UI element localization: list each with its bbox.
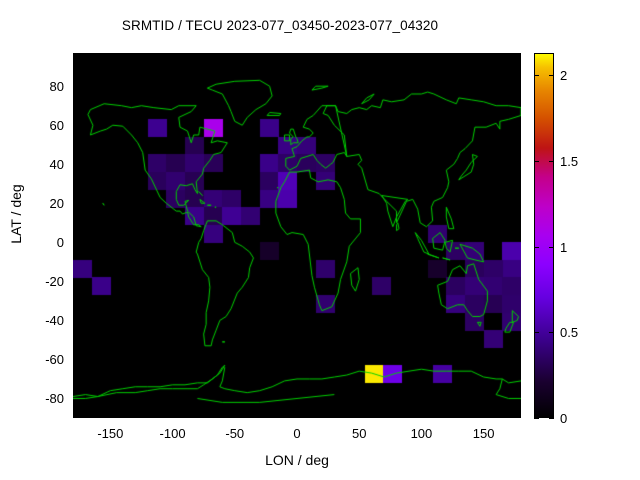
colorbar xyxy=(534,53,554,418)
y-tick-60: 60 xyxy=(4,119,64,132)
colorbar-tick-mark xyxy=(534,332,539,333)
x-tick-100: 100 xyxy=(391,427,451,440)
colorbar-tick-0.5: 0.5 xyxy=(560,326,578,339)
colorbar-tick-mark xyxy=(534,75,539,76)
y-axis-label: LAT / deg xyxy=(8,154,24,274)
x-tick--150: -150 xyxy=(80,427,140,440)
y-tick--20: -20 xyxy=(4,275,64,288)
colorbar-tick-mark xyxy=(549,161,554,162)
colorbar-tick-1: 1 xyxy=(560,241,567,254)
x-tick--50: -50 xyxy=(205,427,265,440)
colorbar-tick-mark xyxy=(549,418,554,419)
y-tick--80: -80 xyxy=(4,392,64,405)
colorbar-tick-mark xyxy=(549,332,554,333)
coastline-layer xyxy=(73,53,521,418)
colorbar-tick-mark xyxy=(534,247,539,248)
x-tick-0: 0 xyxy=(267,427,327,440)
y-tick--40: -40 xyxy=(4,314,64,327)
page-title: SRMTID / TECU 2023-077_03450-2023-077_04… xyxy=(0,18,560,34)
colorbar-tick-2: 2 xyxy=(560,69,567,82)
colorbar-tick-0: 0 xyxy=(560,412,567,425)
map-plot-area[interactable] xyxy=(73,53,521,418)
y-tick--60: -60 xyxy=(4,353,64,366)
colorbar-gradient xyxy=(534,53,554,418)
colorbar-tick-mark xyxy=(549,75,554,76)
colorbar-tick-mark xyxy=(534,161,539,162)
y-tick-80: 80 xyxy=(4,80,64,93)
colorbar-tick-mark xyxy=(534,418,539,419)
chart-figure: SRMTID / TECU 2023-077_03450-2023-077_04… xyxy=(0,0,640,480)
x-tick--100: -100 xyxy=(143,427,203,440)
x-axis-label: LON / deg xyxy=(73,452,521,468)
colorbar-tick-1.5: 1.5 xyxy=(560,155,578,168)
x-tick-150: 150 xyxy=(454,427,514,440)
colorbar-tick-mark xyxy=(549,247,554,248)
x-tick-50: 50 xyxy=(329,427,389,440)
